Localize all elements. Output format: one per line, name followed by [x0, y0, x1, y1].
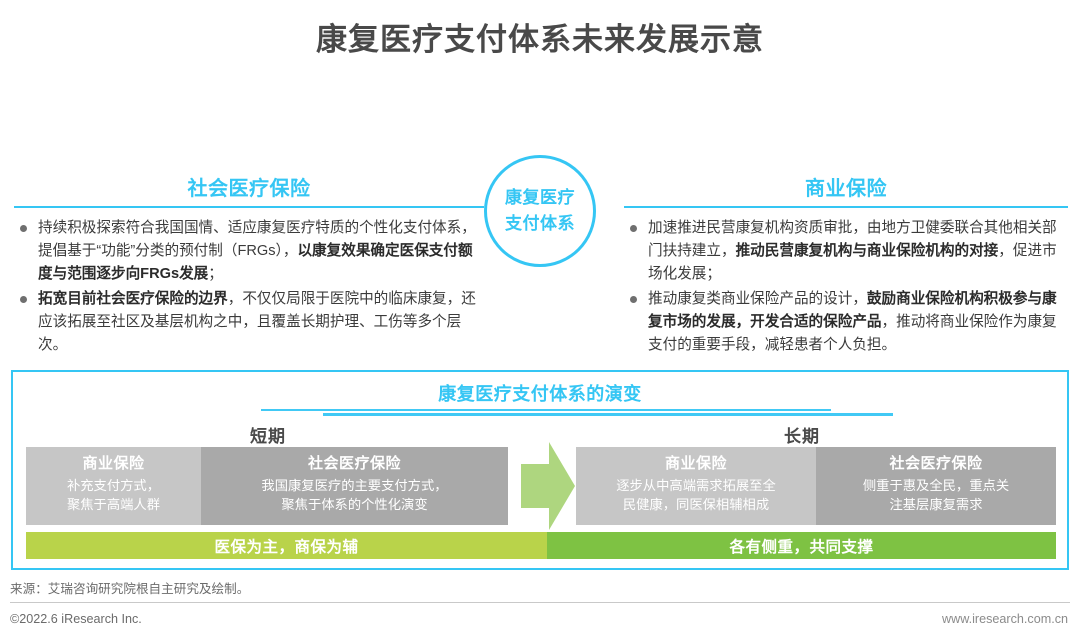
- column-social-insurance: 社会医疗保险 持续积极探索符合我国国情、适应康复医疗特质的个性化支付体系，提倡基…: [14, 172, 484, 359]
- source-note: 来源：艾瑞咨询研究院根自主研究及绘制。: [10, 578, 249, 597]
- short-term-label: 短期: [250, 422, 286, 447]
- bullet-item: 推动康复类商业保险产品的设计，鼓励商业保险机构积极参与康复市场的发展，开发合适的…: [624, 288, 1068, 357]
- right-arrow-icon: [521, 440, 575, 532]
- site-url: www.iresearch.com.cn: [942, 612, 1068, 626]
- panel-rule-thin: [261, 409, 831, 411]
- bullet-item: 加速推进民营康复机构资质审批，由地方卫健委联合其他相关部门扶持建立，推动民营康复…: [624, 217, 1068, 286]
- column-commercial-insurance: 商业保险 加速推进民营康复机构资质审批，由地方卫健委联合其他相关部门扶持建立，推…: [624, 172, 1068, 359]
- insurance-box-desc: 逐步从中高端需求拓展至全民健康，同医保相辅相成: [616, 476, 776, 514]
- bullet-item: 持续积极探索符合我国国情、适应康复医疗特质的个性化支付体系，提倡基于“功能”分类…: [14, 217, 484, 286]
- page-title: 康复医疗支付体系未来发展示意: [0, 14, 1080, 59]
- insurance-box-title: 商业保险: [665, 454, 727, 474]
- bullet-emphasis: 拓宽目前社会医疗保险的边界: [38, 291, 228, 307]
- long-term-summary-bar: 各有侧重，共同支撑: [547, 532, 1056, 559]
- bullet-text: ；: [208, 266, 223, 282]
- panel-rule-thick: [323, 413, 893, 416]
- column-right-bullets: 加速推进民营康复机构资质审批，由地方卫健委联合其他相关部门扶持建立，推动民营康复…: [624, 217, 1068, 357]
- panel-title: 康复医疗支付体系的演变: [13, 372, 1067, 406]
- short-term-box-row: 商业保险补充支付方式，聚焦于高端人群社会医疗保险我国康复医疗的主要支付方式，聚焦…: [26, 447, 508, 525]
- column-right-heading: 商业保险: [624, 172, 1068, 206]
- short-term-summary-bar: 医保为主，商保为辅: [26, 532, 547, 559]
- insurance-box-title: 社会医疗保险: [889, 454, 982, 474]
- infographic-page: 康复医疗支付体系未来发展示意 康复医疗 支付体系 社会医疗保险 持续积极探索符合…: [0, 0, 1080, 640]
- insurance-box-desc: 侧重于惠及全民，重点关注基层康复需求: [863, 476, 1009, 514]
- insurance-box: 社会医疗保险我国康复医疗的主要支付方式，聚焦于体系的个性化演变: [201, 447, 508, 525]
- insurance-box-title: 社会医疗保险: [308, 454, 401, 474]
- footer-divider: [10, 602, 1070, 603]
- center-circle-line1: 康复医疗: [505, 185, 575, 211]
- center-circle-badge: 康复医疗 支付体系: [484, 155, 596, 267]
- column-left-heading: 社会医疗保险: [14, 172, 484, 206]
- short-term-summary-text: 医保为主，商保为辅: [214, 535, 358, 557]
- long-term-summary-text: 各有侧重，共同支撑: [729, 535, 873, 557]
- long-term-box-row: 商业保险逐步从中高端需求拓展至全民健康，同医保相辅相成社会医疗保险侧重于惠及全民…: [576, 447, 1056, 525]
- bullet-emphasis: 推动民营康复机构与商业保险机构的对接: [736, 243, 999, 259]
- center-circle-line2: 支付体系: [505, 211, 575, 237]
- insurance-box-desc: 补充支付方式，聚焦于高端人群: [67, 476, 160, 514]
- long-term-label: 长期: [784, 422, 820, 447]
- evolution-panel: 康复医疗支付体系的演变 短期 长期 商业保险补充支付方式，聚焦于高端人群社会医疗…: [11, 370, 1069, 570]
- column-left-rule: [14, 206, 484, 208]
- bullet-text: 推动康复类商业保险产品的设计，: [648, 291, 867, 307]
- copyright-text: ©2022.6 iResearch Inc.: [10, 612, 142, 626]
- column-right-rule: [624, 206, 1068, 208]
- bullet-item: 拓宽目前社会医疗保险的边界，不仅仅局限于医院中的临床康复，还应该拓展至社区及基层…: [14, 288, 484, 357]
- insurance-box: 社会医疗保险侧重于惠及全民，重点关注基层康复需求: [816, 447, 1056, 525]
- insurance-box: 商业保险逐步从中高端需求拓展至全民健康，同医保相辅相成: [576, 447, 816, 525]
- column-left-bullets: 持续积极探索符合我国国情、适应康复医疗特质的个性化支付体系，提倡基于“功能”分类…: [14, 217, 484, 357]
- insurance-box-desc: 我国康复医疗的主要支付方式，聚焦于体系的个性化演变: [261, 476, 447, 514]
- insurance-box: 商业保险补充支付方式，聚焦于高端人群: [26, 447, 201, 525]
- insurance-box-title: 商业保险: [82, 454, 144, 474]
